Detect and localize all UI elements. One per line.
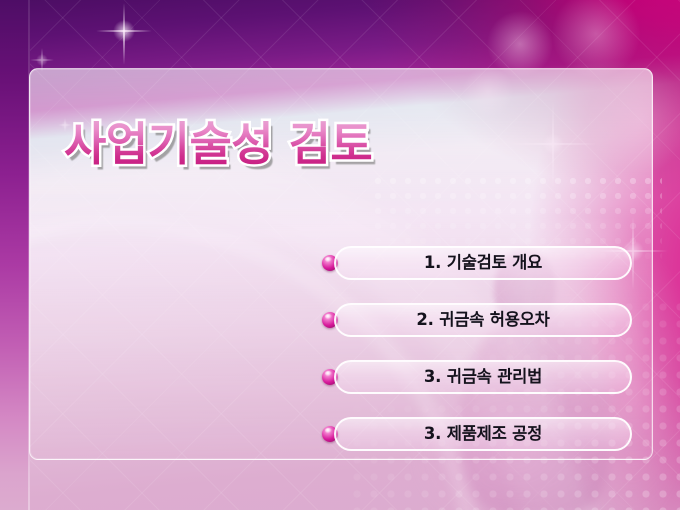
agenda-menu: 1. 기술검토 개요 2. 귀금속 허용오차 3. 귀금속 관리법 3. 제품제… bbox=[322, 246, 632, 451]
sparkle-star-icon bbox=[96, 0, 152, 62]
agenda-item-4[interactable]: 3. 제품제조 공정 bbox=[322, 417, 632, 451]
agenda-item-3-label: 3. 귀금속 관리법 bbox=[334, 360, 632, 394]
agenda-item-1-label: 1. 기술검토 개요 bbox=[334, 246, 632, 280]
page-title-fill: 사업기술성 검토 bbox=[64, 121, 372, 167]
agenda-item-1[interactable]: 1. 기술검토 개요 bbox=[322, 246, 632, 280]
agenda-item-3[interactable]: 3. 귀금속 관리법 bbox=[322, 360, 632, 394]
agenda-item-2-label: 2. 귀금속 허용오차 bbox=[334, 303, 632, 337]
agenda-item-2[interactable]: 2. 귀금속 허용오차 bbox=[322, 303, 632, 337]
agenda-item-4-label: 3. 제품제조 공정 bbox=[334, 417, 632, 451]
presentation-slide: 사업기술성 검토 사업기술성 검토 사업기술성 검토 1. 기술검토 개요 2.… bbox=[0, 0, 680, 510]
background-left-purple-strip bbox=[0, 0, 30, 510]
sparkle-star-icon bbox=[508, 99, 598, 189]
